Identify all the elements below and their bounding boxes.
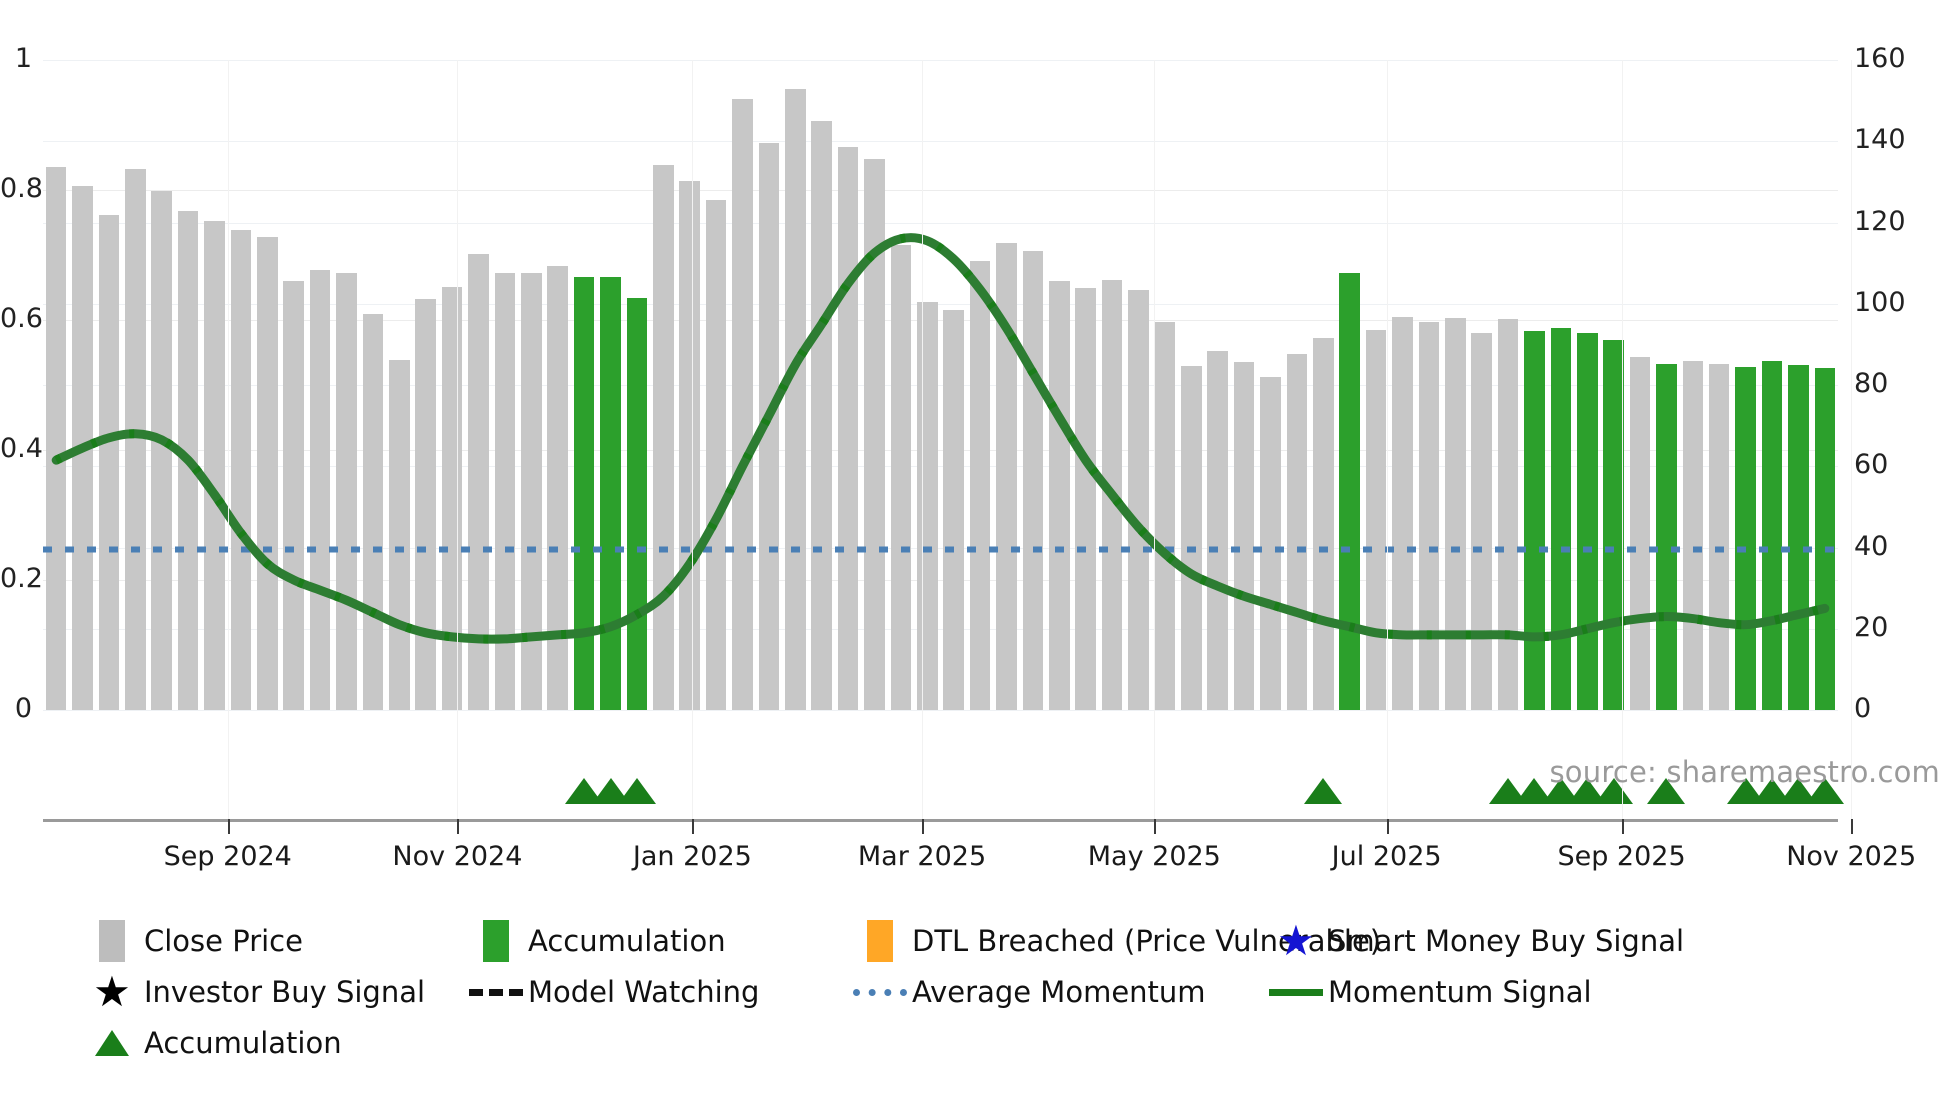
chart-root: 00.20.40.60.81 020406080100120140160 Sep…: [0, 0, 1960, 1102]
legend-item[interactable]: ★Smart Money Buy Signal: [1264, 920, 1684, 962]
legend-label: Smart Money Buy Signal: [1328, 924, 1684, 958]
model-watching-dash-icon: [469, 989, 523, 996]
chart-legend: Close PriceAccumulationDTL Breached (Pri…: [80, 920, 1940, 1073]
smart-money-star-icon: ★: [1277, 927, 1315, 955]
vertical-gridline: [922, 60, 923, 819]
y-axis-right-tick: 120: [1854, 208, 1906, 235]
x-axis-tick-label: Jan 2025: [633, 841, 752, 872]
y-axis-left-tick: 0.4: [0, 435, 32, 462]
legend-key: [80, 920, 144, 962]
legend-key: [80, 1030, 144, 1056]
y-axis-left-tick: 0: [0, 695, 32, 722]
legend-key: [464, 920, 528, 962]
average-momentum-dot-icon: [853, 989, 907, 996]
y-axis-right-tick: 140: [1854, 126, 1906, 153]
y-axis-right-tick: 160: [1854, 45, 1906, 72]
legend-item[interactable]: Close Price: [80, 920, 303, 962]
x-axis-tick: [1387, 819, 1389, 834]
x-axis: Sep 2024Nov 2024Jan 2025Mar 2025May 2025…: [43, 819, 1838, 822]
legend-label: Accumulation: [528, 924, 726, 958]
legend-item[interactable]: Accumulation: [464, 920, 726, 962]
legend-label: Average Momentum: [912, 975, 1206, 1009]
x-axis-tick: [457, 819, 459, 834]
x-axis-tick-label: Nov 2025: [1786, 841, 1916, 872]
x-axis-tick-label: Nov 2024: [392, 841, 522, 872]
x-axis-tick-label: May 2025: [1088, 841, 1221, 872]
x-axis-tick: [922, 819, 924, 834]
vertical-gridline: [692, 60, 693, 819]
y-axis-left-tick: 1: [0, 45, 32, 72]
x-axis-tick-label: Sep 2025: [1557, 841, 1685, 872]
legend-key: [848, 920, 912, 962]
vertical-gridline: [1851, 60, 1852, 819]
y-axis-right-tick: 100: [1854, 289, 1906, 316]
vertical-gridline: [228, 60, 229, 819]
x-axis-tick: [228, 819, 230, 834]
y-axis-right-tick: 0: [1854, 695, 1871, 722]
x-axis-tick: [692, 819, 694, 834]
x-axis-tick-label: Jul 2025: [1332, 841, 1442, 872]
accumulation-marker-icon: [618, 778, 656, 804]
legend-row: ★Investor Buy SignalModel WatchingAverag…: [80, 971, 1940, 1013]
legend-label: Investor Buy Signal: [144, 975, 425, 1009]
x-axis-tick: [1154, 819, 1156, 834]
x-axis-tick: [1851, 819, 1853, 834]
legend-key: ★: [1264, 927, 1328, 955]
y-axis-left-tick: 0.2: [0, 565, 32, 592]
close-price-swatch: [99, 920, 125, 962]
momentum-lines: [43, 60, 1838, 710]
legend-label: Model Watching: [528, 975, 759, 1009]
plot-area: [43, 60, 1838, 710]
source-attribution: source: sharemaestro.com: [1550, 755, 1941, 789]
vertical-gridline: [1387, 60, 1388, 819]
legend-item[interactable]: Model Watching: [464, 971, 759, 1013]
x-axis-tick: [1622, 819, 1624, 834]
vertical-gridline: [1154, 60, 1155, 819]
legend-label: Momentum Signal: [1328, 975, 1592, 1009]
legend-key: [464, 989, 528, 996]
x-axis-tick-label: Sep 2024: [164, 841, 292, 872]
investor-buy-star-icon: ★: [93, 978, 131, 1006]
legend-row: Accumulation: [80, 1022, 1940, 1064]
legend-key: ★: [80, 978, 144, 1006]
legend-key: [1264, 989, 1328, 996]
accumulation-triangle-icon: [95, 1030, 129, 1056]
y-axis-left-tick: 0.8: [0, 175, 32, 202]
y-axis-right-tick: 60: [1854, 451, 1888, 478]
legend-key: [848, 989, 912, 996]
dtl-breached-swatch: [867, 920, 893, 962]
legend-item[interactable]: Average Momentum: [848, 971, 1206, 1013]
momentum-signal-line-icon: [1269, 989, 1323, 996]
legend-item[interactable]: ★Investor Buy Signal: [80, 971, 425, 1013]
x-axis-tick-label: Mar 2025: [858, 841, 986, 872]
legend-row: Close PriceAccumulationDTL Breached (Pri…: [80, 920, 1940, 962]
legend-label: Accumulation: [144, 1026, 342, 1060]
y-axis-right-tick: 40: [1854, 533, 1888, 560]
accumulation-swatch: [483, 920, 509, 962]
legend-item[interactable]: Momentum Signal: [1264, 971, 1592, 1013]
legend-label: Close Price: [144, 924, 303, 958]
vertical-gridline: [457, 60, 458, 819]
accumulation-marker-icon: [1304, 778, 1342, 804]
y-axis-right-tick: 80: [1854, 370, 1888, 397]
momentum-signal-dash-overlay: [56, 238, 1825, 640]
y-axis-right-tick: 20: [1854, 614, 1888, 641]
momentum-signal-path: [56, 238, 1825, 640]
vertical-gridline: [1622, 60, 1623, 819]
plot-inner: [43, 60, 1838, 710]
y-axis-left-tick: 0.6: [0, 305, 32, 332]
legend-item[interactable]: Accumulation: [80, 1022, 342, 1064]
